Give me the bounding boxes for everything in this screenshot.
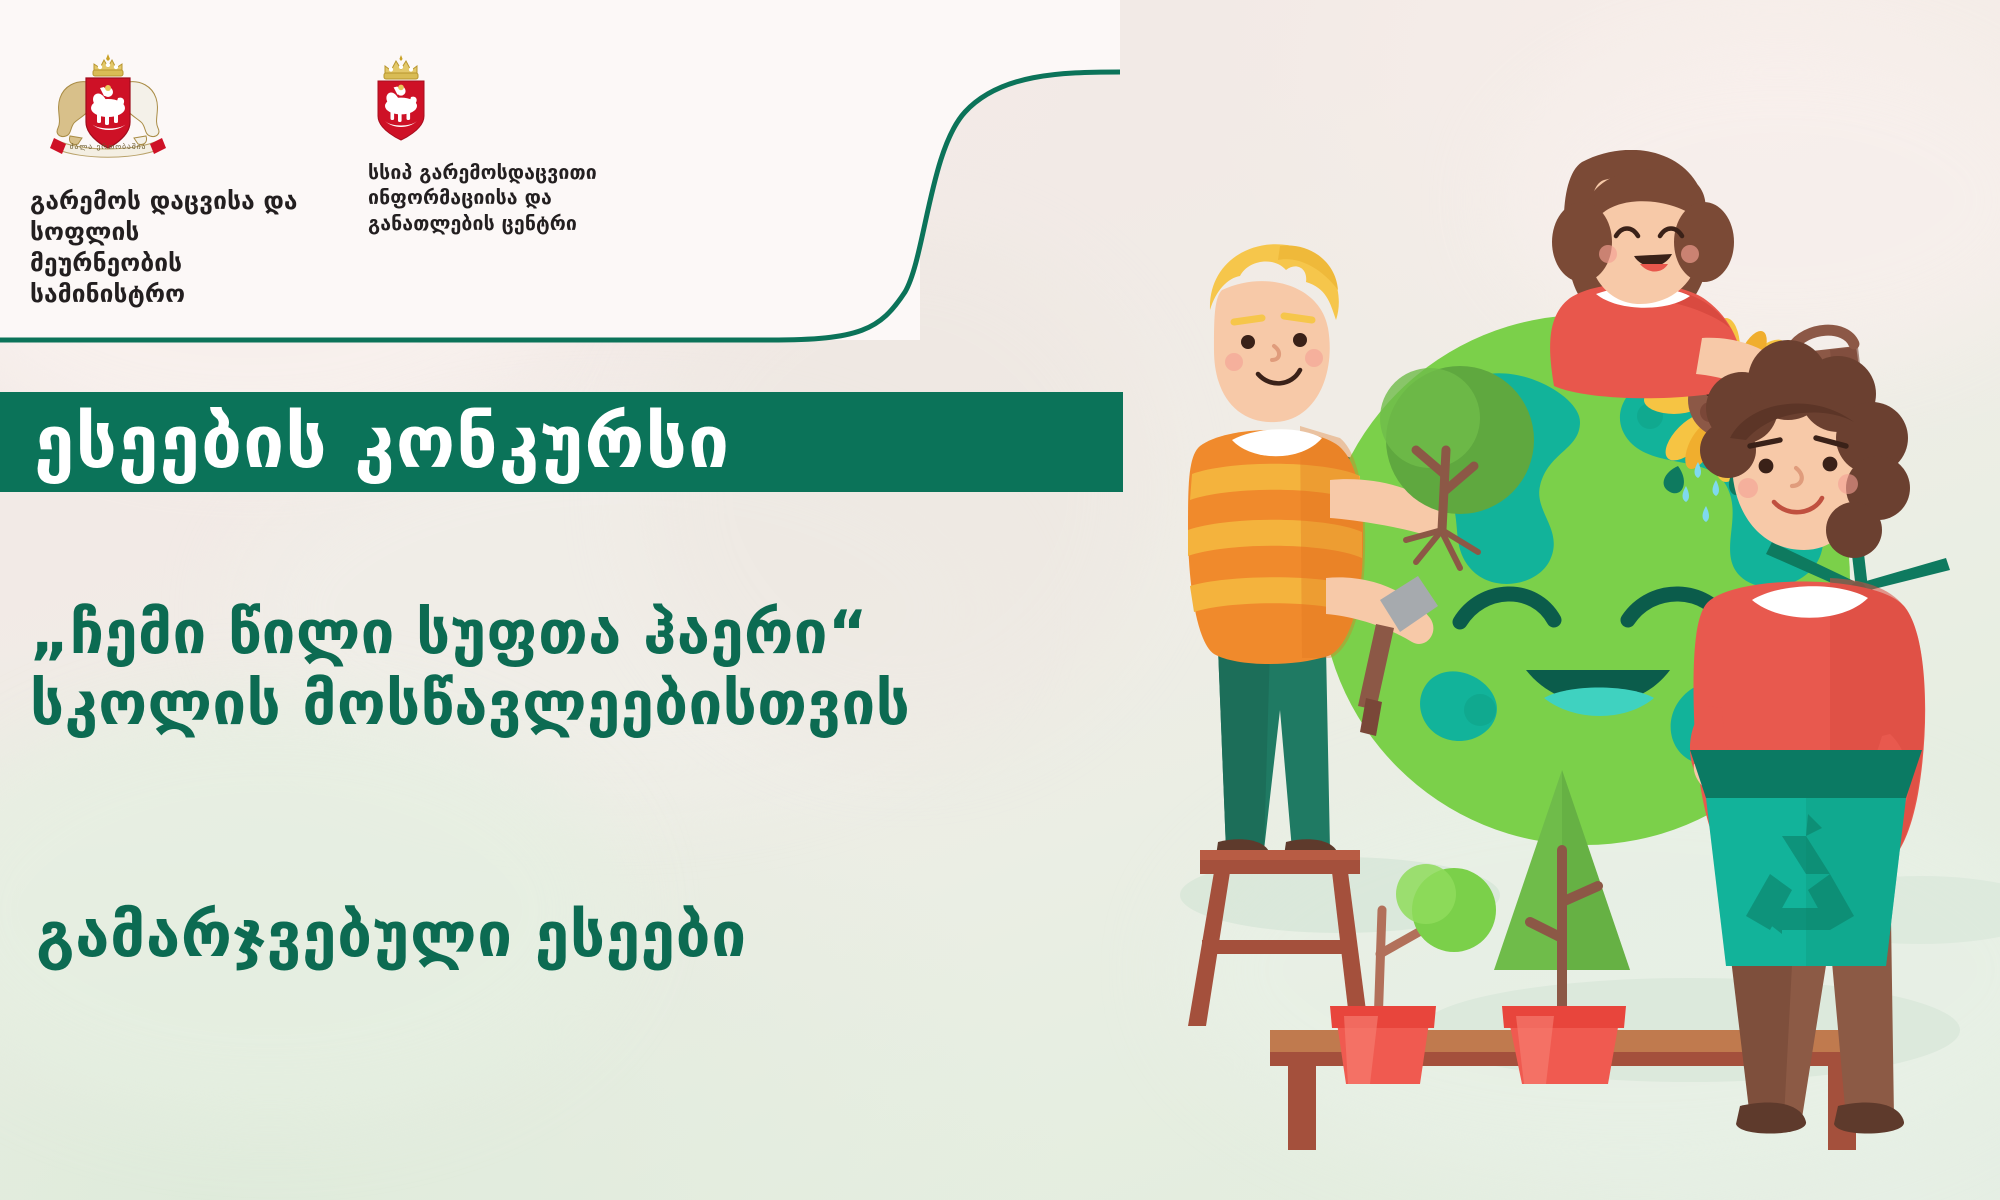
logo-row: ძალა ერთობაშია გარემოს დაცვისა და სოფლის… — [0, 0, 920, 290]
recycling-bin-icon — [1690, 750, 1922, 966]
title-banner: ესეების კონკურსი — [0, 392, 1123, 492]
georgia-shield-crown-icon — [368, 52, 668, 148]
georgia-coat-of-arms-icon: ძალა ერთობაშია — [42, 48, 340, 172]
headline-text: გამარჯვებული ესეები — [36, 898, 1236, 971]
subtitle-text: „ჩემი წილი სუფთა ჰაერი“ სკოლის მოსწავლეე… — [30, 598, 1210, 740]
center-logo: სსიპ გარემოსდაცვითი ინფორმაციისა და განა… — [368, 52, 668, 236]
svg-text:ძალა ერთობაშია: ძალა ერთობაშია — [70, 142, 147, 151]
ministry-logo: ძალა ერთობაშია გარემოს დაცვისა და სოფლის… — [30, 48, 340, 309]
banner-title: ესეების კონკურსი — [34, 406, 730, 479]
poster-canvas: ძალა ერთობაშია გარემოს დაცვისა და სოფლის… — [0, 0, 2000, 1200]
illustration-children-planting-earth — [1130, 150, 2000, 1160]
center-logo-text: სსიპ გარემოსდაცვითი ინფორმაციისა და განა… — [368, 160, 668, 236]
ministry-logo-text: გარემოს დაცვისა და სოფლის მეურნეობის სამ… — [30, 186, 340, 309]
